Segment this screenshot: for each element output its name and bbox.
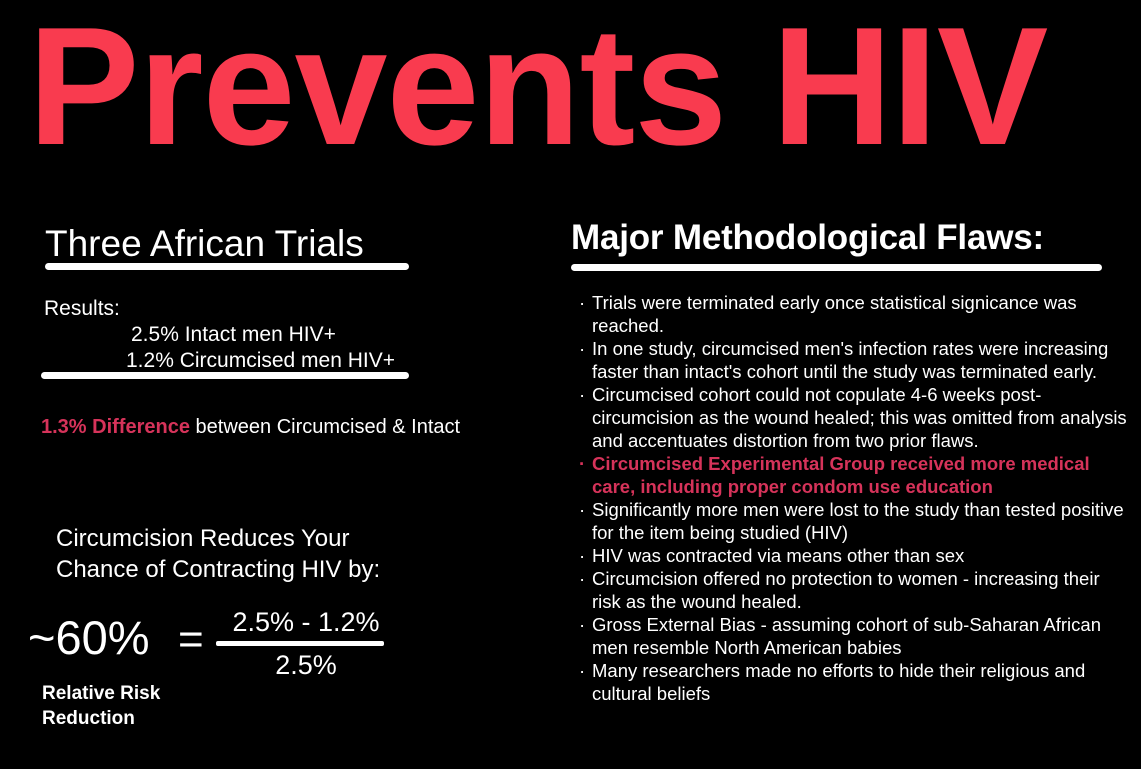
list-item-label: Circumcision offered no protection to wo…	[592, 567, 1131, 613]
right-column-heading: Major Methodological Flaws:	[571, 217, 1044, 259]
title-banner: Prevents HIV	[0, 0, 1141, 168]
results-underline	[41, 372, 409, 379]
right-heading-underline	[571, 264, 1102, 271]
list-item-label: Many researchers made no efforts to hide…	[592, 659, 1131, 705]
reduction-statement-line-2: Chance of Contracting HIV by:	[56, 554, 476, 585]
slide-title: Prevents HIV	[28, 2, 1103, 170]
list-item: ·Gross External Bias - assuming cohort o…	[571, 613, 1131, 659]
list-item-label: Gross External Bias - assuming cohort of…	[592, 613, 1131, 659]
left-heading-underline	[45, 263, 409, 270]
right-column: Major Methodological Flaws: ·Trials were…	[560, 205, 1141, 769]
equation-result-value: ~60%	[28, 611, 150, 665]
reduction-statement-line-1: Circumcision Reduces Your	[56, 523, 476, 554]
list-item-label: Significantly more men were lost to the …	[592, 498, 1131, 544]
list-item: ·Circumcision offered no protection to w…	[571, 567, 1131, 613]
bullet-icon: ·	[579, 613, 585, 636]
list-item: ·In one study, circumcised men's infecti…	[571, 337, 1131, 383]
equation-denominator: 2.5%	[216, 648, 396, 682]
list-item-label: Circumcised Experimental Group received …	[592, 452, 1131, 498]
relative-risk-caption-line-2: Reduction	[42, 706, 302, 731]
list-item: ·Circumcised Experimental Group received…	[571, 452, 1131, 498]
list-item: ·Circumcised cohort could not copulate 4…	[571, 383, 1131, 452]
relative-risk-caption: Relative Risk Reduction	[42, 681, 302, 731]
difference-accent-value: 1.3% Difference	[41, 416, 190, 438]
methodological-flaws-list: ·Trials were terminated early once stati…	[571, 291, 1131, 705]
list-item: ·Many researchers made no efforts to hid…	[571, 659, 1131, 705]
results-label: Results:	[44, 296, 120, 322]
bullet-icon: ·	[579, 567, 585, 590]
list-item-label: HIV was contracted via means other than …	[592, 544, 1131, 567]
list-item-label: In one study, circumcised men's infectio…	[592, 337, 1131, 383]
equation-numerator: 2.5% - 1.2%	[216, 605, 396, 639]
left-column-heading: Three African Trials	[45, 222, 364, 266]
slide-root: Prevents HIV Three African Trials Result…	[0, 0, 1141, 769]
difference-remainder-text: between Circumcised & Intact	[190, 416, 460, 438]
bullet-icon: ·	[579, 383, 585, 406]
difference-statement: 1.3% Difference between Circumcised & In…	[41, 414, 460, 440]
bullet-icon: ·	[579, 498, 585, 521]
equation-fraction-bar	[216, 641, 384, 646]
list-item: ·Trials were terminated early once stati…	[571, 291, 1131, 337]
list-item-label: Trials were terminated early once statis…	[592, 291, 1131, 337]
equation-fraction: 2.5% - 1.2% 2.5%	[216, 605, 396, 682]
bullet-icon: ·	[579, 544, 585, 567]
relative-risk-caption-line-1: Relative Risk	[42, 681, 302, 706]
results-circumcised-rate: 1.2% Circumcised men HIV+	[126, 348, 395, 374]
list-item-label: Circumcised cohort could not copulate 4-…	[592, 383, 1131, 452]
left-column: Three African Trials Results: 2.5% Intac…	[0, 205, 560, 769]
list-item: ·HIV was contracted via means other than…	[571, 544, 1131, 567]
reduction-statement: Circumcision Reduces Your Chance of Cont…	[56, 523, 476, 585]
results-intact-rate: 2.5% Intact men HIV+	[131, 322, 336, 348]
bullet-icon: ·	[579, 659, 585, 682]
list-item: ·Significantly more men were lost to the…	[571, 498, 1131, 544]
bullet-icon: ·	[579, 291, 585, 314]
bullet-icon: ·	[579, 337, 585, 360]
bullet-icon: ·	[579, 452, 585, 475]
equation-equals-sign: =	[178, 613, 204, 667]
